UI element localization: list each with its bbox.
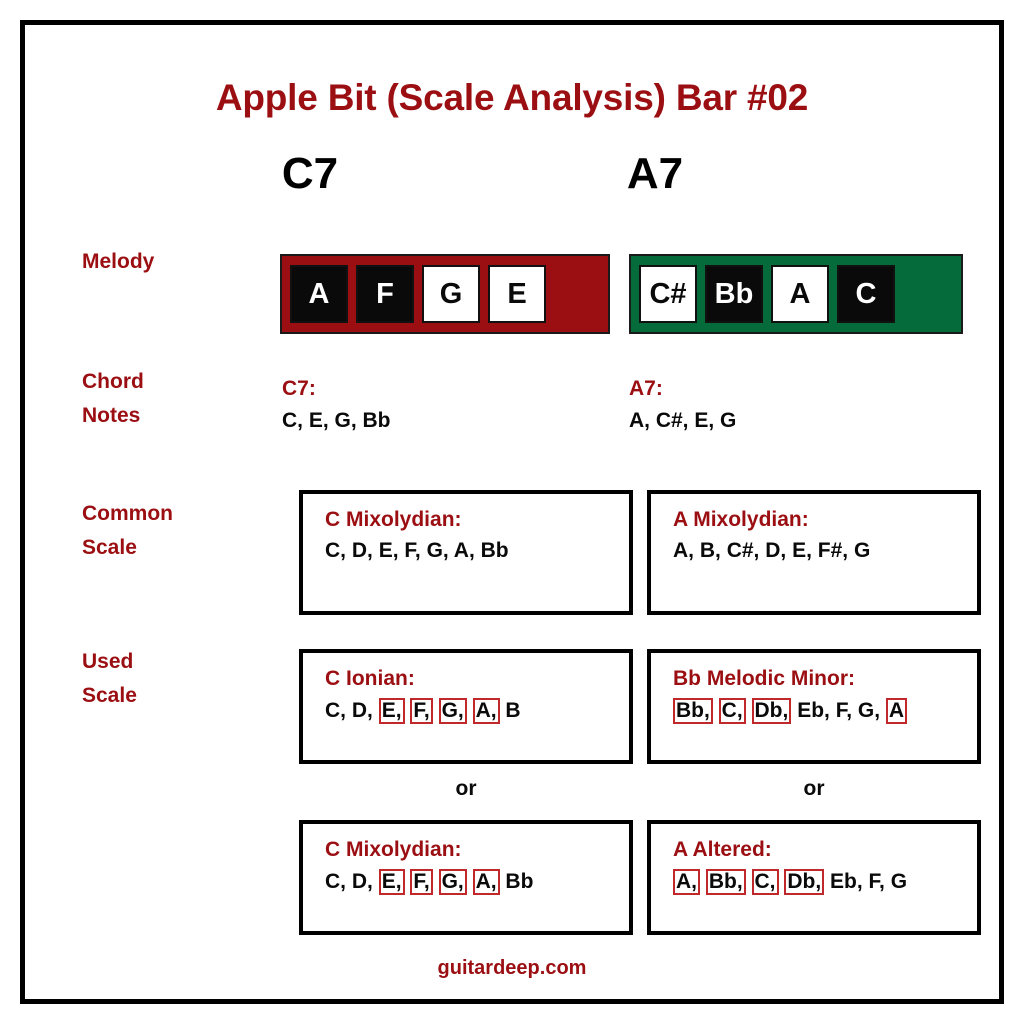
row-label-chord-notes: Chord Notes — [82, 365, 282, 432]
common-scale-a7-note-B: B, — [700, 539, 721, 562]
used-scale-c7-alternate-title: C Mixolydian: — [325, 838, 611, 862]
row-label-melody: Melody — [82, 245, 282, 279]
used-scale-c7-alternate-note-E-highlighted: E, — [379, 869, 405, 895]
used-scale-a7-primary-note-A-highlighted: A — [886, 698, 907, 724]
common-scale-a7-title: A Mixolydian: — [673, 508, 959, 532]
used-scale-a7-primary-note-F: F, — [836, 699, 852, 722]
chord-notes-c7-title: C7: — [282, 377, 391, 401]
used-scale-a7-alternate-note-Eb: Eb, — [830, 870, 863, 893]
common-scale-c7-note-G: G, — [427, 539, 449, 562]
used-scale-a7-alternate-notes: A, Bb, C, Db, Eb, F, G — [673, 869, 959, 895]
used-scale-c7-primary-title: C Ionian: — [325, 667, 611, 691]
used-scale-a7-primary-note-Eb: Eb, — [797, 699, 830, 722]
common-scale-c7-notes: C, D, E, F, G, A, Bb — [325, 539, 611, 563]
used-scale-c7-primary-note-F-highlighted: F, — [410, 698, 432, 724]
used-scale-c7-primary-note-B: B — [505, 699, 520, 722]
used-scale-c7-alternate-notes: C, D, E, F, G, A, Bb — [325, 869, 611, 895]
used-scale-c7-alternate-note-C: C, — [325, 870, 346, 893]
used-scale-a7-primary-title: Bb Melodic Minor: — [673, 667, 959, 691]
melody-note-a7-3: A — [771, 265, 829, 323]
chord-notes-a7-title: A7: — [629, 377, 736, 401]
used-scale-a7-primary-note-C-highlighted: C, — [719, 698, 746, 724]
page-title: Apple Bit (Scale Analysis) Bar #02 — [25, 77, 999, 119]
melody-bar-a7: C#BbAC — [629, 254, 963, 334]
common-scale-box-c7: C Mixolydian: C, D, E, F, G, A, Bb — [299, 490, 633, 615]
used-scale-a7-primary-notes: Bb, C, Db, Eb, F, G, A — [673, 698, 959, 724]
used-scale-c7-alternate-note-G-highlighted: G, — [439, 869, 467, 895]
chord-notes-c7: C7: C, E, G, Bb — [282, 377, 391, 433]
footer-watermark: guitardeep.com — [25, 957, 999, 980]
common-scale-c7-note-Bb: Bb — [481, 539, 509, 562]
melody-note-a7-4: C — [837, 265, 895, 323]
chord-notes-a7: A7: A, C#, E, G — [629, 377, 736, 433]
used-scale-a7-primary-note-Db-highlighted: Db, — [752, 698, 792, 724]
used-scale-box-c7-primary: C Ionian: C, D, E, F, G, A, B — [299, 649, 633, 764]
chord-notes-a7-notes: A, C#, E, G — [629, 409, 736, 433]
used-scale-c7-primary-note-D: D, — [352, 699, 373, 722]
row-label-common-scale: Common Scale — [82, 497, 282, 564]
or-separator-a7: or — [647, 777, 981, 801]
used-scale-c7-alternate-note-Bb: Bb — [505, 870, 533, 893]
used-scale-c7-primary-note-A-highlighted: A, — [473, 698, 500, 724]
melody-note-c7-4: E — [488, 265, 546, 323]
used-scale-c7-alternate-note-F-highlighted: F, — [410, 869, 432, 895]
used-scale-a7-alternate-note-Db-highlighted: Db, — [784, 869, 824, 895]
common-scale-a7-note-Csharp: C#, — [727, 539, 760, 562]
melody-note-c7-3: G — [422, 265, 480, 323]
melody-bar-c7: AFGE — [280, 254, 610, 334]
common-scale-a7-note-Fsharp: F#, — [818, 539, 848, 562]
common-scale-a7-note-E: E, — [792, 539, 812, 562]
poster-frame: Apple Bit (Scale Analysis) Bar #02 C7 A7… — [20, 20, 1004, 1004]
common-scale-c7-note-C: C, — [325, 539, 346, 562]
row-label-common-scale-line1: Common — [82, 497, 282, 531]
common-scale-c7-note-D: D, — [352, 539, 373, 562]
melody-note-a7-1: C# — [639, 265, 697, 323]
used-scale-c7-primary-note-C: C, — [325, 699, 346, 722]
row-label-melody-text: Melody — [82, 245, 282, 279]
row-label-chord-notes-line2: Notes — [82, 399, 282, 433]
common-scale-a7-note-G: G — [854, 539, 870, 562]
used-scale-c7-alternate-note-A-highlighted: A, — [473, 869, 500, 895]
used-scale-box-c7-alternate: C Mixolydian: C, D, E, F, G, A, Bb — [299, 820, 633, 935]
common-scale-a7-notes: A, B, C#, D, E, F#, G — [673, 539, 959, 563]
used-scale-a7-alternate-note-A-highlighted: A, — [673, 869, 700, 895]
row-label-used-scale-line1: Used — [82, 645, 282, 679]
used-scale-c7-alternate-note-D: D, — [352, 870, 373, 893]
chord-header-c7: C7 — [260, 149, 360, 199]
used-scale-c7-primary-note-E-highlighted: E, — [379, 698, 405, 724]
used-scale-a7-primary-note-Bb-highlighted: Bb, — [673, 698, 713, 724]
chord-notes-c7-notes: C, E, G, Bb — [282, 409, 391, 433]
row-label-used-scale-line2: Scale — [82, 679, 282, 713]
used-scale-a7-alternate-note-G: G — [891, 870, 907, 893]
used-scale-a7-alternate-note-Bb-highlighted: Bb, — [706, 869, 746, 895]
chord-header-a7: A7 — [605, 149, 705, 199]
used-scale-a7-alternate-note-C-highlighted: C, — [752, 869, 779, 895]
used-scale-c7-primary-notes: C, D, E, F, G, A, B — [325, 698, 611, 724]
melody-note-a7-2: Bb — [705, 265, 763, 323]
used-scale-box-a7-primary: Bb Melodic Minor: Bb, C, Db, Eb, F, G, A — [647, 649, 981, 764]
used-scale-a7-alternate-note-F: F, — [869, 870, 885, 893]
or-separator-c7: or — [299, 777, 633, 801]
row-label-used-scale: Used Scale — [82, 645, 282, 712]
row-label-chord-notes-line1: Chord — [82, 365, 282, 399]
used-scale-a7-alternate-title: A Altered: — [673, 838, 959, 862]
common-scale-c7-note-A: A, — [454, 539, 475, 562]
common-scale-a7-note-D: D, — [765, 539, 786, 562]
melody-note-c7-2: F — [356, 265, 414, 323]
melody-note-c7-1: A — [290, 265, 348, 323]
used-scale-c7-primary-note-G-highlighted: G, — [439, 698, 467, 724]
common-scale-box-a7: A Mixolydian: A, B, C#, D, E, F#, G — [647, 490, 981, 615]
common-scale-c7-title: C Mixolydian: — [325, 508, 611, 532]
common-scale-a7-note-A: A, — [673, 539, 694, 562]
common-scale-c7-note-E: E, — [379, 539, 399, 562]
used-scale-a7-primary-note-G: G, — [858, 699, 880, 722]
row-label-common-scale-line2: Scale — [82, 531, 282, 565]
common-scale-c7-note-F: F, — [404, 539, 420, 562]
used-scale-box-a7-alternate: A Altered: A, Bb, C, Db, Eb, F, G — [647, 820, 981, 935]
